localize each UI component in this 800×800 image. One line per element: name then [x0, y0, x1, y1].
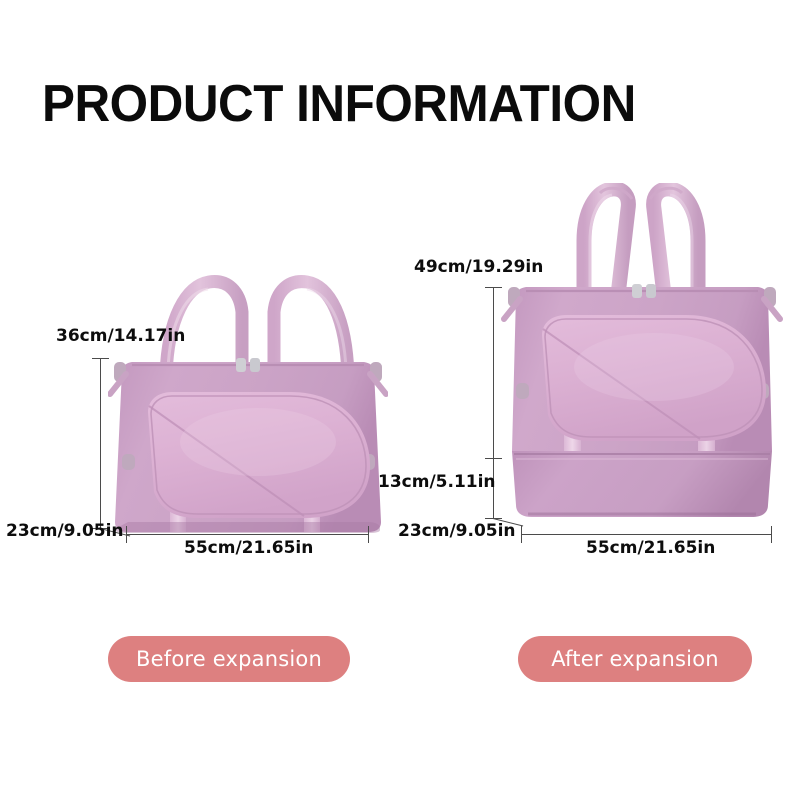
right-depth-label: 23cm/9.05in: [398, 521, 516, 541]
duffel-bag-icon: [108, 270, 388, 538]
right-width-cap-left: [521, 526, 522, 543]
after-expansion-pill-label: After expansion: [551, 647, 719, 671]
left-height-dimension-line: [100, 358, 101, 528]
product-information-page: PRODUCT INFORMATION: [0, 0, 800, 800]
before-expansion-pill[interactable]: Before expansion: [108, 636, 350, 682]
left-width-dimension-line: [126, 534, 368, 535]
after-expansion-pill[interactable]: After expansion: [518, 636, 752, 682]
duffel-bag-expanded-icon: [500, 183, 784, 523]
right-height-cap-top: [485, 287, 502, 288]
left-height-cap-top: [92, 358, 109, 359]
right-width-label: 55cm/21.65in: [586, 538, 715, 558]
before-expansion-pill-label: Before expansion: [136, 647, 322, 671]
right-height-label: 49cm/19.29in: [414, 257, 543, 277]
left-depth-label: 23cm/9.05in: [6, 521, 124, 541]
right-width-cap-right: [771, 526, 772, 543]
right-expansion-label: 13cm/5.11in: [378, 472, 496, 492]
left-width-label: 55cm/21.65in: [184, 538, 313, 558]
left-width-cap-left: [126, 526, 127, 543]
left-height-label: 36cm/14.17in: [56, 326, 185, 346]
right-height-cap-mid: [485, 458, 502, 459]
page-title: PRODUCT INFORMATION: [42, 76, 636, 132]
right-width-dimension-line: [521, 534, 771, 535]
left-width-cap-right: [368, 526, 369, 543]
